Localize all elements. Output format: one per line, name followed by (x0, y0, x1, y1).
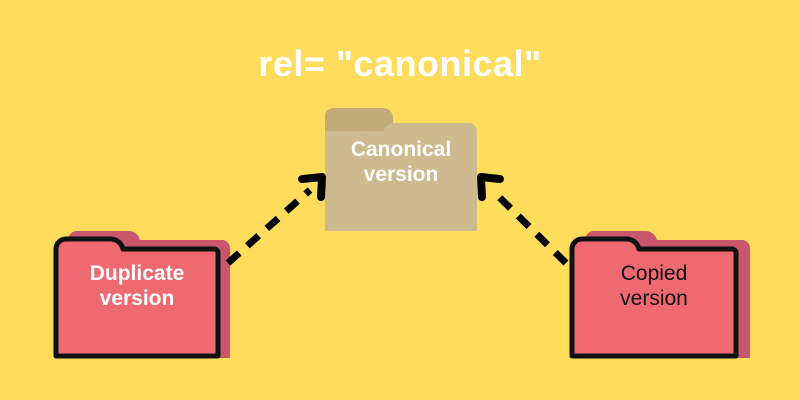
folder-canonical-tab (325, 108, 393, 132)
arrow-copied-to-canonical (480, 177, 566, 263)
arrow-copied-head (480, 177, 500, 198)
folder-copied-front (572, 239, 736, 356)
arrow-duplicate-to-canonical (228, 177, 323, 263)
arrow-copied-line (492, 190, 566, 263)
diagram-graphics (0, 0, 800, 400)
arrow-duplicate-head (302, 177, 323, 198)
arrow-duplicate-line (228, 190, 310, 263)
folder-canonical[interactable] (325, 108, 477, 231)
folder-copied[interactable] (572, 231, 750, 358)
diagram-canvas: rel= "canonical" (0, 0, 800, 400)
folder-canonical-body-rect (325, 131, 477, 231)
folder-duplicate-front (56, 239, 218, 356)
folder-duplicate[interactable] (56, 231, 230, 358)
